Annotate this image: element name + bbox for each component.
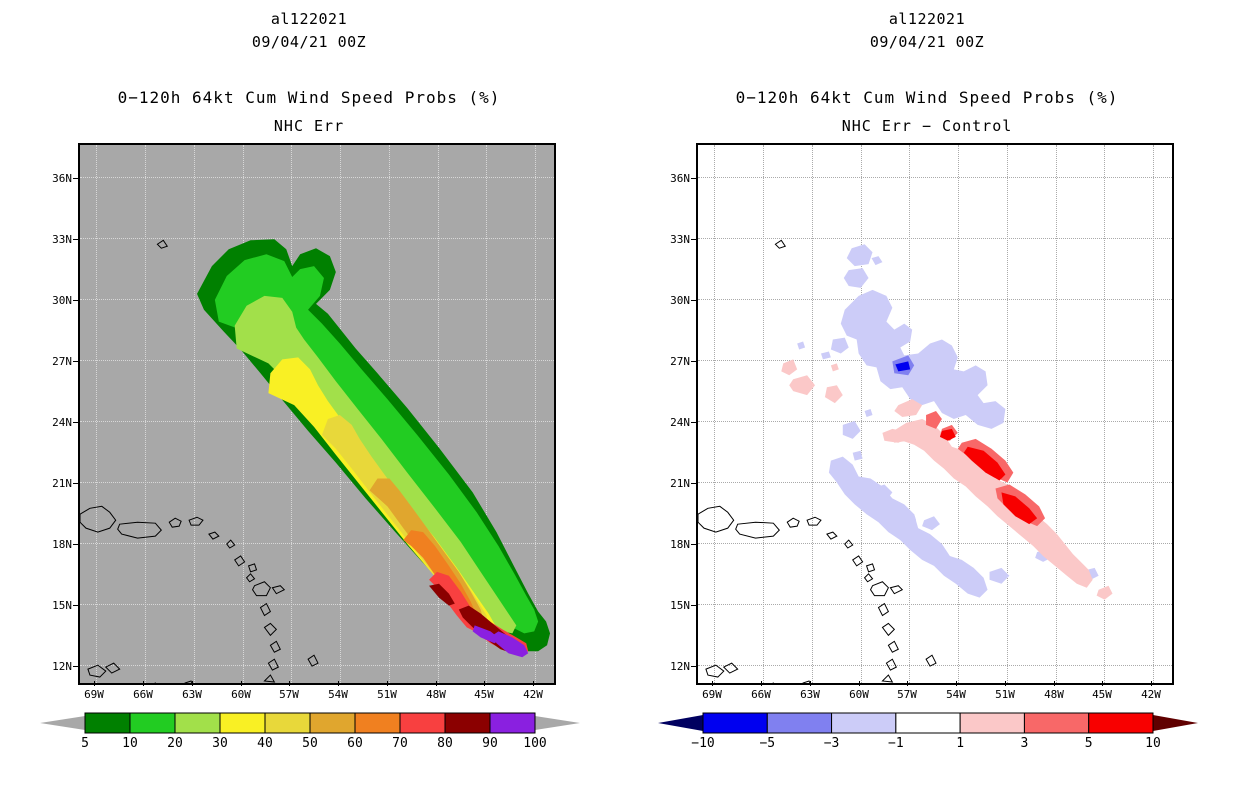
colorbar-tick-label: 5 bbox=[65, 736, 105, 751]
xtick-label: 63W bbox=[790, 688, 830, 701]
colorbar-tick-label: 80 bbox=[425, 736, 465, 751]
colorbar-tick-label: 3 bbox=[1004, 736, 1044, 751]
chart-subtitle-left: NHC Err bbox=[0, 117, 618, 135]
xtick-label: 42W bbox=[513, 688, 553, 701]
ytick-label: 12N bbox=[648, 660, 690, 673]
storm-id-right: al122021 bbox=[618, 10, 1236, 28]
colorbar-tick-label: −1 bbox=[876, 736, 916, 751]
colorbar-tick-label: 10 bbox=[1133, 736, 1173, 751]
colorbar-left-svg bbox=[40, 712, 580, 734]
colorbar-cell bbox=[445, 713, 490, 733]
ytick-label: 33N bbox=[30, 233, 72, 246]
xtick-mark bbox=[289, 681, 290, 686]
ytick-mark bbox=[691, 361, 696, 362]
colorbar-tick-label: 100 bbox=[515, 736, 555, 751]
ytick-mark bbox=[73, 422, 78, 423]
colorbar-cell bbox=[896, 713, 960, 733]
colorbar-over-arrow bbox=[1153, 715, 1198, 731]
datetime-right: 09/04/21 00Z bbox=[618, 33, 1236, 51]
ytick-label: 18N bbox=[648, 538, 690, 551]
colorbar-cell bbox=[265, 713, 310, 733]
chart-title-left: 0−120h 64kt Cum Wind Speed Probs (%) bbox=[0, 88, 618, 107]
colorbar-cell bbox=[130, 713, 175, 733]
colorbar-under-arrow bbox=[40, 716, 85, 730]
xtick-mark bbox=[338, 681, 339, 686]
xtick-mark bbox=[956, 681, 957, 686]
xtick-label: 69W bbox=[692, 688, 732, 701]
xtick-label: 57W bbox=[887, 688, 927, 701]
panel-nhc-err-minus-control: al122021 09/04/21 00Z 0−120h 64kt Cum Wi… bbox=[618, 0, 1236, 800]
xtick-mark bbox=[436, 681, 437, 686]
xtick-label: 45W bbox=[464, 688, 504, 701]
xtick-mark bbox=[1054, 681, 1055, 686]
colorbar-tick-label: 70 bbox=[380, 736, 420, 751]
ytick-mark bbox=[73, 544, 78, 545]
xtick-mark bbox=[907, 681, 908, 686]
colorbar-under-arrow bbox=[658, 715, 703, 731]
xtick-label: 57W bbox=[269, 688, 309, 701]
chart-title-right: 0−120h 64kt Cum Wind Speed Probs (%) bbox=[618, 88, 1236, 107]
colorbar-tick-label: 5 bbox=[1069, 736, 1109, 751]
ytick-label: 36N bbox=[648, 172, 690, 185]
xtick-label: 42W bbox=[1131, 688, 1171, 701]
colorbar-cell bbox=[175, 713, 220, 733]
ytick-label: 24N bbox=[648, 416, 690, 429]
wind-probability-contours bbox=[80, 145, 554, 683]
colorbar-cell bbox=[1089, 713, 1153, 733]
xtick-mark bbox=[761, 681, 762, 686]
ytick-label: 33N bbox=[648, 233, 690, 246]
xtick-label: 45W bbox=[1082, 688, 1122, 701]
colorbar-cell bbox=[767, 713, 831, 733]
colorbar-right-labels: −10−5−3−113510 bbox=[658, 736, 1198, 756]
ytick-mark bbox=[73, 483, 78, 484]
ytick-mark bbox=[73, 300, 78, 301]
xtick-label: 60W bbox=[839, 688, 879, 701]
ytick-label: 15N bbox=[648, 599, 690, 612]
ytick-label: 15N bbox=[30, 599, 72, 612]
colorbar-over-arrow bbox=[535, 716, 580, 730]
xtick-mark bbox=[712, 681, 713, 686]
xtick-mark bbox=[859, 681, 860, 686]
colorbar-tick-label: 50 bbox=[290, 736, 330, 751]
ytick-mark bbox=[73, 605, 78, 606]
ytick-mark bbox=[691, 605, 696, 606]
xtick-mark bbox=[533, 681, 534, 686]
colorbar-cell bbox=[1024, 713, 1088, 733]
ytick-label: 30N bbox=[648, 294, 690, 307]
xtick-mark bbox=[387, 681, 388, 686]
colorbar-cell bbox=[355, 713, 400, 733]
colorbar-difference[interactable]: −10−5−3−113510 bbox=[658, 712, 1198, 772]
xtick-mark bbox=[810, 681, 811, 686]
xtick-label: 54W bbox=[318, 688, 358, 701]
ytick-mark bbox=[691, 422, 696, 423]
xtick-mark bbox=[1151, 681, 1152, 686]
ytick-mark bbox=[73, 361, 78, 362]
xtick-label: 69W bbox=[74, 688, 114, 701]
xtick-label: 60W bbox=[221, 688, 261, 701]
xtick-label: 48W bbox=[1034, 688, 1074, 701]
colorbar-tick-label: 1 bbox=[940, 736, 980, 751]
ytick-label: 21N bbox=[30, 477, 72, 490]
colorbar-cell bbox=[832, 713, 896, 733]
ytick-label: 21N bbox=[648, 477, 690, 490]
ytick-mark bbox=[73, 239, 78, 240]
xtick-label: 54W bbox=[936, 688, 976, 701]
colorbar-tick-label: −10 bbox=[683, 736, 723, 751]
xtick-mark bbox=[1102, 681, 1103, 686]
colorbar-tick-label: 90 bbox=[470, 736, 510, 751]
ytick-label: 27N bbox=[30, 355, 72, 368]
map-plot-nhc-err[interactable] bbox=[78, 143, 556, 685]
difference-field-contours bbox=[698, 145, 1172, 683]
ytick-label: 18N bbox=[30, 538, 72, 551]
ytick-mark bbox=[73, 178, 78, 179]
colorbar-tick-label: −3 bbox=[812, 736, 852, 751]
colorbar-cell bbox=[220, 713, 265, 733]
colorbar-cell bbox=[85, 713, 130, 733]
ytick-mark bbox=[691, 666, 696, 667]
xtick-mark bbox=[192, 681, 193, 686]
colorbar-tick-label: 60 bbox=[335, 736, 375, 751]
xtick-mark bbox=[484, 681, 485, 686]
colorbar-tick-label: −5 bbox=[747, 736, 787, 751]
xtick-label: 48W bbox=[416, 688, 456, 701]
chart-subtitle-right: NHC Err − Control bbox=[618, 117, 1236, 135]
ytick-label: 36N bbox=[30, 172, 72, 185]
colorbar-cell bbox=[960, 713, 1024, 733]
xtick-label: 66W bbox=[123, 688, 163, 701]
ytick-label: 30N bbox=[30, 294, 72, 307]
colorbar-cell bbox=[703, 713, 767, 733]
colorbar-tick-label: 30 bbox=[200, 736, 240, 751]
ytick-mark bbox=[73, 666, 78, 667]
storm-id-left: al122021 bbox=[0, 10, 618, 28]
xtick-mark bbox=[1005, 681, 1006, 686]
xtick-label: 66W bbox=[741, 688, 781, 701]
panel-nhc-err: al122021 09/04/21 00Z 0−120h 64kt Cum Wi… bbox=[0, 0, 618, 800]
colorbar-tick-label: 40 bbox=[245, 736, 285, 751]
xtick-label: 51W bbox=[985, 688, 1025, 701]
xtick-label: 63W bbox=[172, 688, 212, 701]
map-plot-difference[interactable] bbox=[696, 143, 1174, 685]
colorbar-left-labels: 5102030405060708090100 bbox=[40, 736, 580, 756]
xtick-mark bbox=[143, 681, 144, 686]
ytick-label: 27N bbox=[648, 355, 690, 368]
colorbar-probability[interactable]: 5102030405060708090100 bbox=[40, 712, 580, 772]
ytick-mark bbox=[691, 483, 696, 484]
colorbar-right-svg bbox=[658, 712, 1198, 734]
xtick-label: 51W bbox=[367, 688, 407, 701]
xtick-mark bbox=[94, 681, 95, 686]
colorbar-cell bbox=[490, 713, 535, 733]
colorbar-tick-label: 10 bbox=[110, 736, 150, 751]
colorbar-cell bbox=[400, 713, 445, 733]
colorbar-cell bbox=[310, 713, 355, 733]
ytick-mark bbox=[691, 239, 696, 240]
ytick-mark bbox=[691, 544, 696, 545]
datetime-left: 09/04/21 00Z bbox=[0, 33, 618, 51]
ytick-label: 12N bbox=[30, 660, 72, 673]
xtick-mark bbox=[241, 681, 242, 686]
ytick-mark bbox=[691, 178, 696, 179]
ytick-label: 24N bbox=[30, 416, 72, 429]
ytick-mark bbox=[691, 300, 696, 301]
colorbar-tick-label: 20 bbox=[155, 736, 195, 751]
